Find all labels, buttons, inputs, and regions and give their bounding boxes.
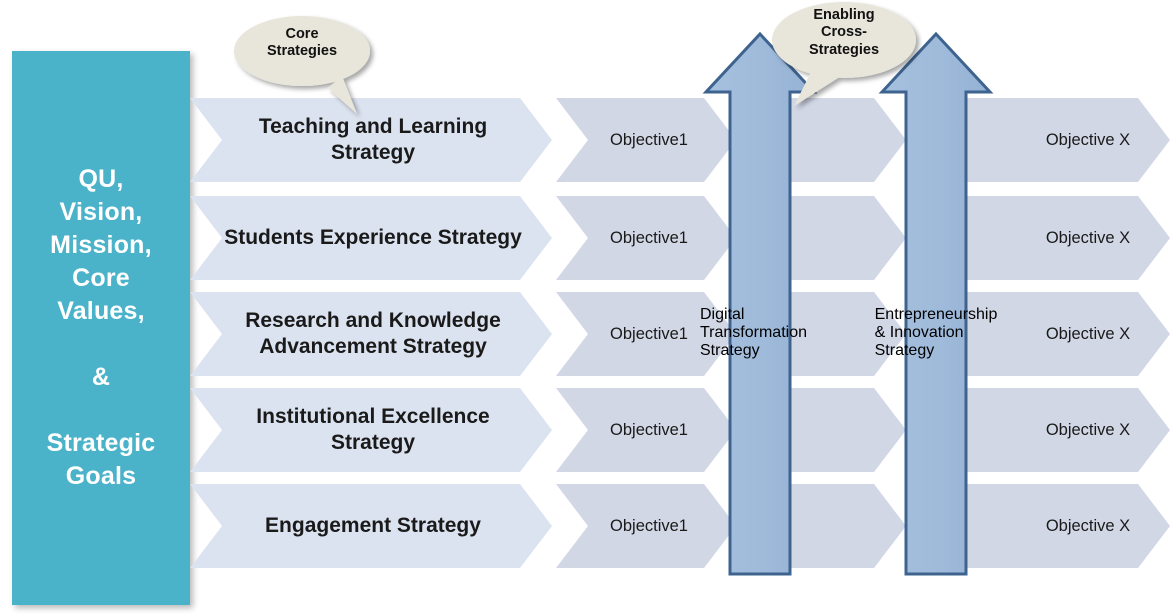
strategy-chevron[interactable]: Students Experience Strategy: [190, 196, 552, 280]
strategy-row: Institutional Excellence Strategy Object…: [190, 388, 1170, 472]
strategy-label: Students Experience Strategy: [224, 225, 522, 251]
objective-label: Objective1: [610, 131, 688, 150]
objective-x-label: Objective X: [1046, 517, 1130, 536]
strategy-row: Research and Knowledge Advancement Strat…: [190, 292, 1170, 376]
strategy-row: Engagement Strategy Objective1 Objective…: [190, 484, 1170, 568]
goals-panel-text: QU, Vision, Mission, Core Values, & Stra…: [41, 163, 162, 493]
objective-x-label: Objective X: [1046, 131, 1130, 150]
strategy-label: Institutional Excellence Strategy: [224, 404, 522, 455]
enabling-cross-strategies-callout-text: Enabling Cross- Strategies: [776, 7, 912, 59]
objective-x-label: Objective X: [1046, 421, 1130, 440]
strategy-row: Students Experience Strategy Objective1 …: [190, 196, 1170, 280]
entrepreneurship-innovation-label: Entrepreneurship & Innovation Strategy: [875, 306, 998, 360]
objective-label: Objective1: [610, 325, 688, 344]
digital-transformation-label: Digital Transformation Strategy: [700, 306, 820, 360]
strategy-chevron[interactable]: Engagement Strategy: [190, 484, 552, 568]
strategy-chevron[interactable]: Research and Knowledge Advancement Strat…: [190, 292, 552, 376]
strategy-map-diagram: QU, Vision, Mission, Core Values, & Stra…: [0, 0, 1170, 616]
objective-x-label: Objective X: [1046, 325, 1130, 344]
objective-label: Objective1: [610, 229, 688, 248]
core-strategies-callout-text: Core Strategies: [238, 26, 366, 61]
objective-label: Objective1: [610, 421, 688, 440]
enabling-cross-strategies-callout[interactable]: Enabling Cross- Strategies: [762, 0, 932, 118]
goals-panel: QU, Vision, Mission, Core Values, & Stra…: [12, 51, 190, 605]
objective-label: Objective1: [610, 517, 688, 536]
strategy-label: Engagement Strategy: [265, 513, 481, 539]
strategy-label: Teaching and Learning Strategy: [224, 114, 522, 165]
core-strategies-callout[interactable]: Core Strategies: [232, 10, 392, 120]
strategy-chevron[interactable]: Institutional Excellence Strategy: [190, 388, 552, 472]
objective-x-label: Objective X: [1046, 229, 1130, 248]
strategy-label: Research and Knowledge Advancement Strat…: [224, 308, 522, 359]
